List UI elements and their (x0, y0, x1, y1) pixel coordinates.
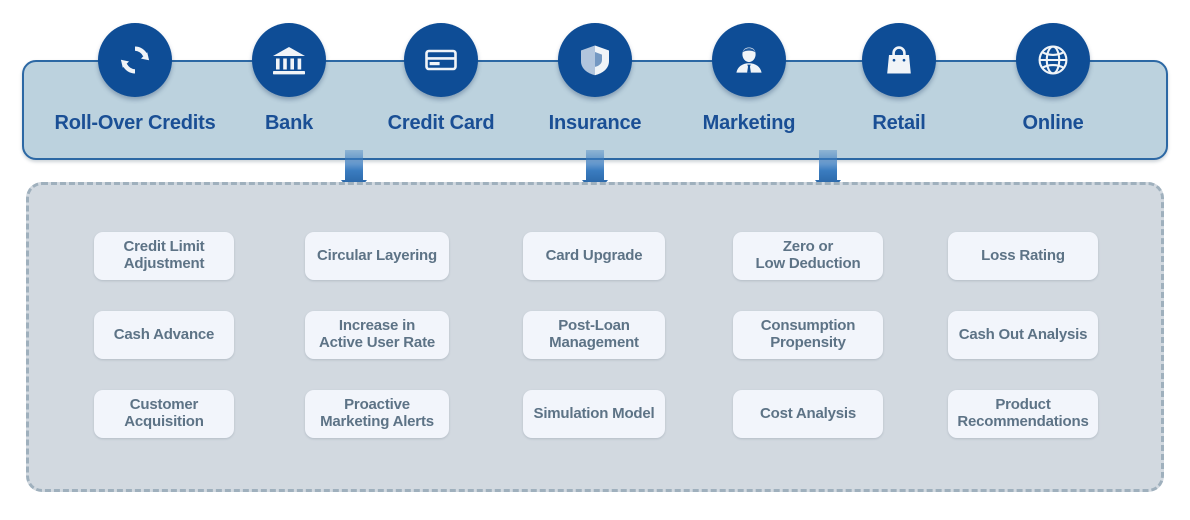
bank-icon (252, 23, 326, 97)
use-case-card-label: Zero orLow Deduction (750, 239, 867, 273)
use-case-card[interactable]: Cash Out Analysis (948, 311, 1098, 359)
use-case-card[interactable]: Post-LoanManagement (523, 311, 665, 359)
use-case-card[interactable]: ProactiveMarketing Alerts (305, 390, 449, 438)
use-case-card-label: Post-LoanManagement (543, 318, 645, 352)
use-case-card[interactable]: Cost Analysis (733, 390, 883, 438)
use-case-card[interactable]: Cash Advance (94, 311, 234, 359)
use-case-card[interactable]: Credit LimitAdjustment (94, 232, 234, 280)
use-case-card[interactable]: Circular Layering (305, 232, 449, 280)
use-case-card-label: Loss Rating (975, 248, 1071, 265)
use-case-card-label: ConsumptionPropensity (755, 318, 861, 352)
use-case-card-label: Cost Analysis (754, 406, 862, 423)
use-case-card-label: ProactiveMarketing Alerts (314, 397, 440, 431)
use-case-card-label: Card Upgrade (540, 248, 649, 265)
channel-label: Online (953, 112, 1153, 135)
use-case-card-label: Simulation Model (528, 406, 661, 423)
use-case-card[interactable]: ProductRecommendations (948, 390, 1098, 438)
use-case-card[interactable]: ConsumptionPropensity (733, 311, 883, 359)
use-case-card-label: Cash Advance (108, 327, 220, 344)
use-case-card-label: CustomerAcquisition (118, 397, 209, 431)
business-person-icon (712, 23, 786, 97)
globe-icon (1016, 23, 1090, 97)
use-case-card-label: Circular Layering (311, 248, 443, 265)
use-case-card-label: Cash Out Analysis (953, 327, 1094, 344)
use-case-card[interactable]: Increase inActive User Rate (305, 311, 449, 359)
refresh-rollover-icon (98, 23, 172, 97)
diagram-canvas: Roll-Over CreditsBankCredit CardInsuranc… (0, 0, 1190, 520)
use-case-card-label: Increase inActive User Rate (313, 318, 441, 352)
use-case-card-label: ProductRecommendations (951, 397, 1094, 431)
use-case-card[interactable]: Card Upgrade (523, 232, 665, 280)
use-case-card[interactable]: CustomerAcquisition (94, 390, 234, 438)
use-case-card-label: Credit LimitAdjustment (118, 239, 211, 273)
channel-online[interactable]: Online (953, 60, 1153, 160)
shield-icon (558, 23, 632, 97)
use-case-card[interactable]: Zero orLow Deduction (733, 232, 883, 280)
shopping-bag-icon (862, 23, 936, 97)
use-case-card[interactable]: Simulation Model (523, 390, 665, 438)
use-case-card[interactable]: Loss Rating (948, 232, 1098, 280)
credit-card-icon (404, 23, 478, 97)
